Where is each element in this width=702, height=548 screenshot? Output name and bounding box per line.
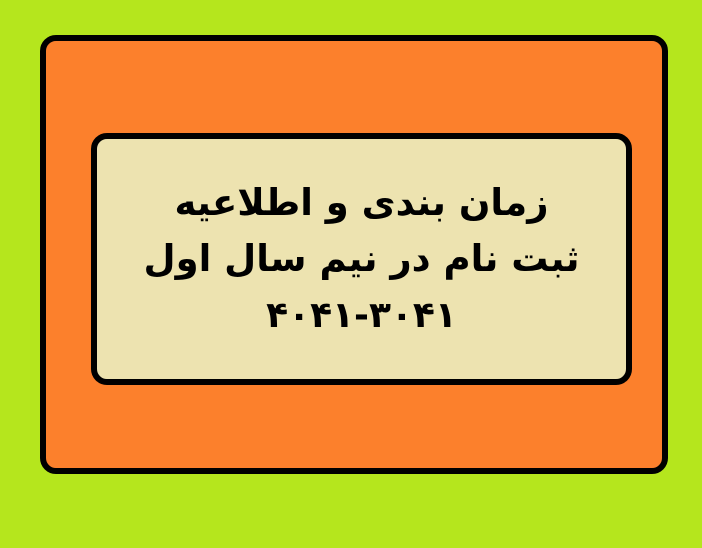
poster-canvas: زمان بندی و اطلاعیه ثبت نام در نیم سال ا… (0, 0, 702, 548)
orange-panel: زمان بندی و اطلاعیه ثبت نام در نیم سال ا… (40, 35, 668, 474)
headline-line-2: ثبت نام در نیم سال اول (97, 232, 626, 287)
headline-line-3-academic-year: ۱۴۰۳-۱۴۰۴ (97, 289, 626, 342)
cream-announcement-card: زمان بندی و اطلاعیه ثبت نام در نیم سال ا… (91, 133, 632, 385)
headline-line-1: زمان بندی و اطلاعیه (97, 176, 626, 231)
